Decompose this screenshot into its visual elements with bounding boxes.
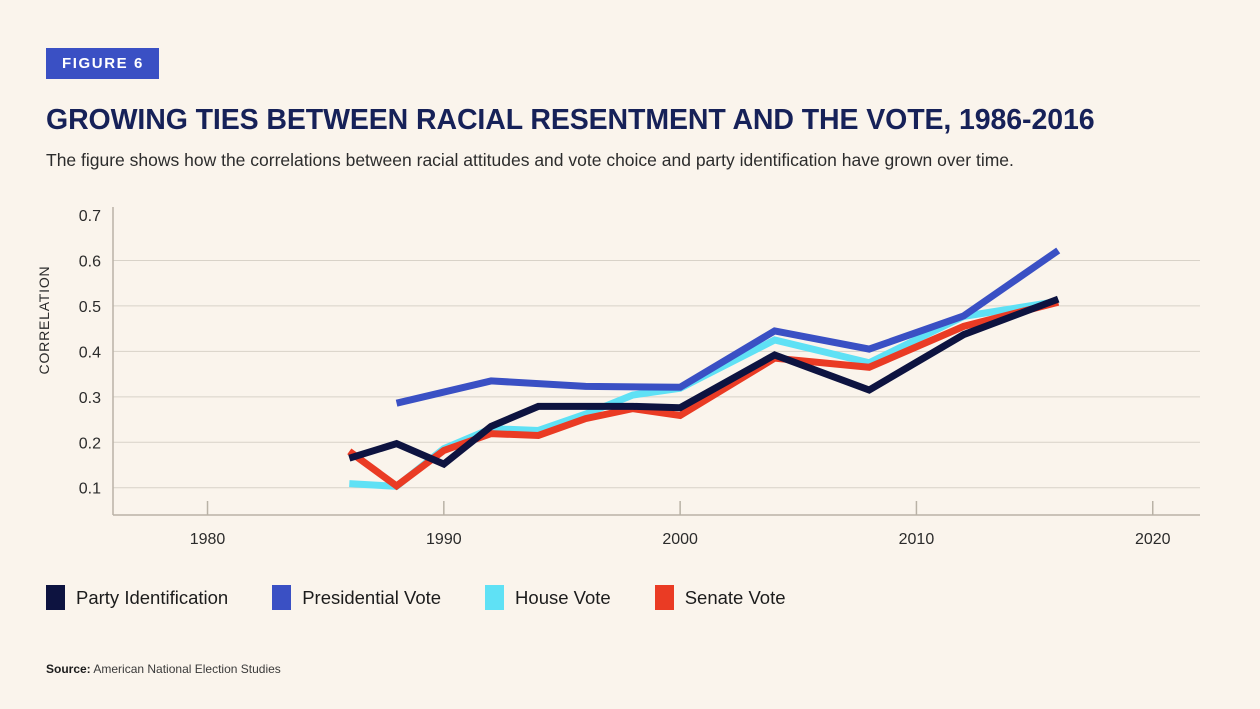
- figure-subtitle: The figure shows how the correlations be…: [46, 150, 1014, 171]
- x-axis-tick-label: 2010: [899, 531, 935, 545]
- legend-swatch-icon: [485, 585, 504, 610]
- x-axis-tick-label: 2000: [662, 531, 698, 545]
- chart-plot-area: 0.10.20.30.40.50.60.7 198019902000201020…: [0, 195, 1260, 545]
- y-axis-tick-label: 0.1: [79, 481, 101, 498]
- chart-legend: Party IdentificationPresidential VoteHou…: [46, 585, 830, 610]
- gridlines: [113, 260, 1200, 487]
- y-axis-tick-label: 0.5: [79, 299, 101, 316]
- y-axis-tick-label: 0.2: [79, 435, 101, 452]
- figure-card: FIGURE 6 GROWING TIES BETWEEN RACIAL RES…: [0, 0, 1260, 709]
- x-axis-tick-label: 1990: [426, 531, 462, 545]
- source-text: American National Election Studies: [93, 662, 280, 676]
- source-note: Source: American National Election Studi…: [46, 662, 281, 676]
- y-axis-tick-label: 0.7: [79, 208, 101, 225]
- x-axis: 19801990200020102020: [113, 501, 1200, 545]
- legend-item-label: Presidential Vote: [302, 587, 441, 609]
- legend-item[interactable]: Party Identification: [46, 585, 228, 610]
- legend-item-label: Party Identification: [76, 587, 228, 609]
- y-axis-tick-label: 0.6: [79, 253, 101, 270]
- line-chart-svg: 0.10.20.30.40.50.60.7 198019902000201020…: [0, 195, 1260, 545]
- legend-item[interactable]: House Vote: [485, 585, 611, 610]
- legend-item[interactable]: Senate Vote: [655, 585, 786, 610]
- legend-swatch-icon: [655, 585, 674, 610]
- legend-swatch-icon: [46, 585, 65, 610]
- x-axis-tick-label: 2020: [1135, 531, 1171, 545]
- y-axis-tick-label: 0.4: [79, 344, 101, 361]
- y-axis-title: CORRELATION: [36, 266, 52, 375]
- data-series-group: [349, 250, 1058, 486]
- y-axis-tick-label: 0.3: [79, 390, 101, 407]
- page-title: GROWING TIES BETWEEN RACIAL RESENTMENT A…: [46, 104, 1094, 137]
- source-label: Source:: [46, 662, 91, 676]
- legend-item[interactable]: Presidential Vote: [272, 585, 441, 610]
- figure-badge: FIGURE 6: [46, 48, 159, 79]
- legend-item-label: House Vote: [515, 587, 611, 609]
- legend-item-label: Senate Vote: [685, 587, 786, 609]
- x-axis-tick-label: 1980: [190, 531, 226, 545]
- legend-swatch-icon: [272, 585, 291, 610]
- y-axis: 0.10.20.30.40.50.60.7: [79, 207, 113, 515]
